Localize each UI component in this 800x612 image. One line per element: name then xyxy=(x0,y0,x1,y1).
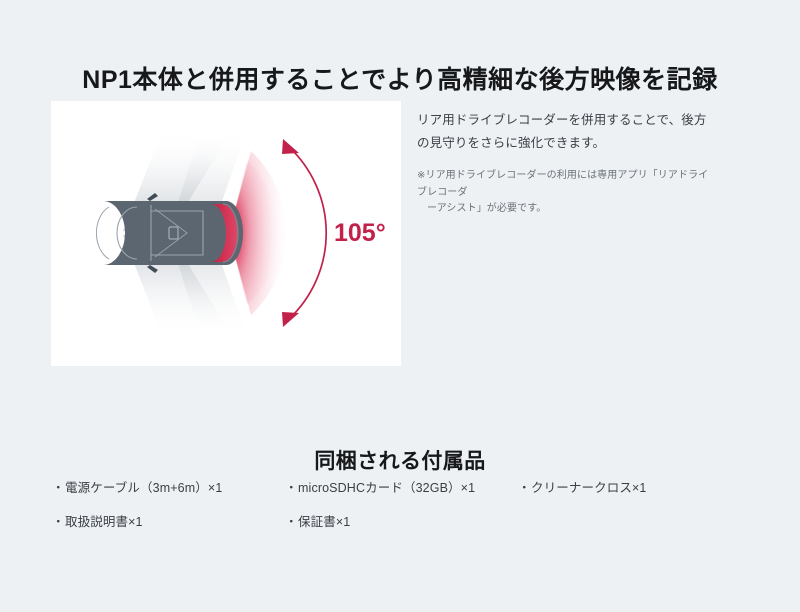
bullet-icon: ・ xyxy=(52,482,65,495)
bullet-icon: ・ xyxy=(285,482,298,495)
bullet-icon: ・ xyxy=(518,482,531,495)
list-item: ・ クリーナークロス×1 xyxy=(518,482,751,495)
list-item-label: 取扱説明書×1 xyxy=(65,516,143,529)
list-item: ・ microSDHCカード（32GB）×1 xyxy=(285,482,518,495)
feature-note-line-1: ※リア用ドライブレコーダーの利用には専用アプリ「リアドライブレコーダ xyxy=(417,170,708,198)
list-item: ・ 保証書×1 xyxy=(285,516,518,529)
bullet-icon: ・ xyxy=(285,516,298,529)
list-item-label: 電源ケーブル（3m+6m）×1 xyxy=(65,482,222,495)
page-root: NP1本体と併用することでより高精細な後方映像を記録 xyxy=(0,0,800,612)
feature-copy-block: リア用ドライブレコーダーを併用することで、後方の見守りをさらに強化できます。 ※… xyxy=(417,109,717,218)
list-item: ・ 取扱説明書×1 xyxy=(52,516,285,529)
bullet-icon: ・ xyxy=(52,516,65,529)
accessories-column-3: ・ クリーナークロス×1 xyxy=(518,482,751,516)
feature-figure-panel: 105° xyxy=(51,101,401,366)
accessories-column-1: ・ 電源ケーブル（3m+6m）×1 ・ 取扱説明書×1 xyxy=(52,482,285,549)
accessories-list: ・ 電源ケーブル（3m+6m）×1 ・ 取扱説明書×1 ・ microSDHCカ… xyxy=(52,482,752,549)
list-item-label: 保証書×1 xyxy=(298,516,350,529)
list-item-label: クリーナークロス×1 xyxy=(531,482,647,495)
feature-lead-text: リア用ドライブレコーダーを併用することで、後方の見守りをさらに強化できます。 xyxy=(417,109,717,155)
list-item: ・ 電源ケーブル（3m+6m）×1 xyxy=(52,482,285,495)
feature-note-line-2: ーアシスト」が必要です。 xyxy=(417,201,717,218)
accessories-title: 同梱される付属品 xyxy=(0,445,800,475)
rear-camera-coverage-diagram: 105° xyxy=(51,101,401,366)
list-item-label: microSDHCカード（32GB）×1 xyxy=(298,482,475,495)
page-title: NP1本体と併用することでより高精細な後方映像を記録 xyxy=(0,65,800,95)
accessories-column-2: ・ microSDHCカード（32GB）×1 ・ 保証書×1 xyxy=(285,482,518,549)
feature-note-text: ※リア用ドライブレコーダーの利用には専用アプリ「リアドライブレコーダ ーアシスト… xyxy=(417,168,717,218)
angle-label: 105° xyxy=(334,219,386,247)
